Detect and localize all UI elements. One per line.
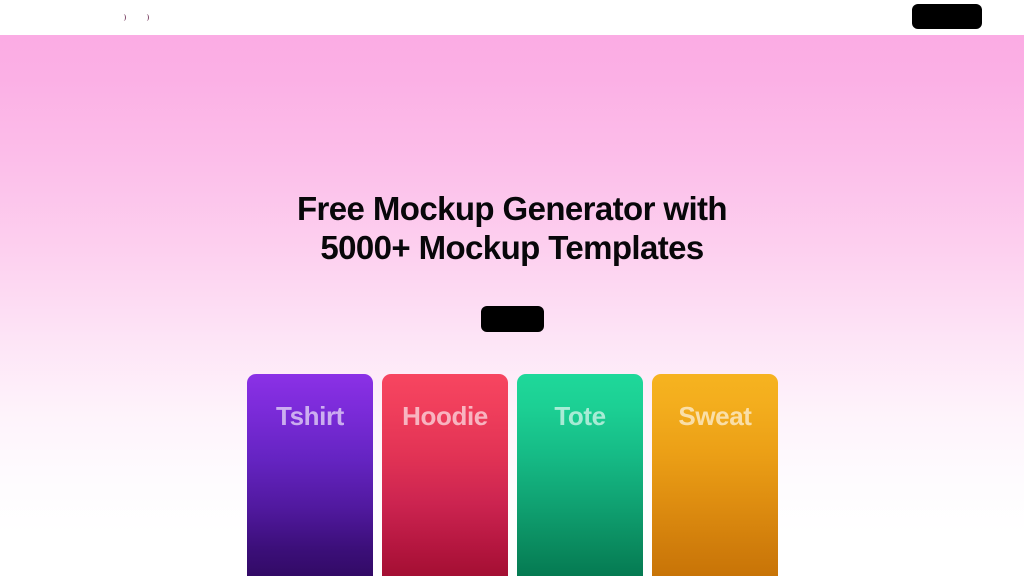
hero-cta-container bbox=[0, 306, 1024, 332]
category-card-tote-label: Tote bbox=[517, 401, 643, 432]
main-nav bbox=[118, 0, 150, 35]
category-card-tshirt-label: Tshirt bbox=[247, 401, 373, 432]
hero-cta-button[interactable] bbox=[481, 306, 544, 332]
category-card-list: Tshirt Hoodie Tote Sweat bbox=[247, 374, 777, 576]
category-card-tshirt[interactable]: Tshirt bbox=[247, 374, 373, 576]
page-title-line-2: 5000+ Mockup Templates bbox=[0, 231, 1024, 264]
page-title: Free Mockup Generator with 5000+ Mockup … bbox=[0, 192, 1024, 264]
header-cta-button[interactable] bbox=[912, 4, 982, 29]
nav-item-1[interactable] bbox=[118, 0, 127, 35]
category-card-sweat-label: Sweat bbox=[652, 401, 778, 432]
site-header bbox=[0, 0, 1024, 35]
category-card-hoodie-label: Hoodie bbox=[382, 401, 508, 432]
hero-section: Free Mockup Generator with 5000+ Mockup … bbox=[0, 35, 1024, 576]
category-card-tote[interactable]: Tote bbox=[517, 374, 643, 576]
brand-logo[interactable] bbox=[28, 7, 124, 27]
chevron-down-icon bbox=[121, 13, 127, 23]
page-title-line-1: Free Mockup Generator with bbox=[0, 192, 1024, 225]
chevron-down-icon bbox=[144, 13, 150, 23]
nav-item-2[interactable] bbox=[141, 0, 150, 35]
category-card-hoodie[interactable]: Hoodie bbox=[382, 374, 508, 576]
category-card-sweat[interactable]: Sweat bbox=[652, 374, 778, 576]
